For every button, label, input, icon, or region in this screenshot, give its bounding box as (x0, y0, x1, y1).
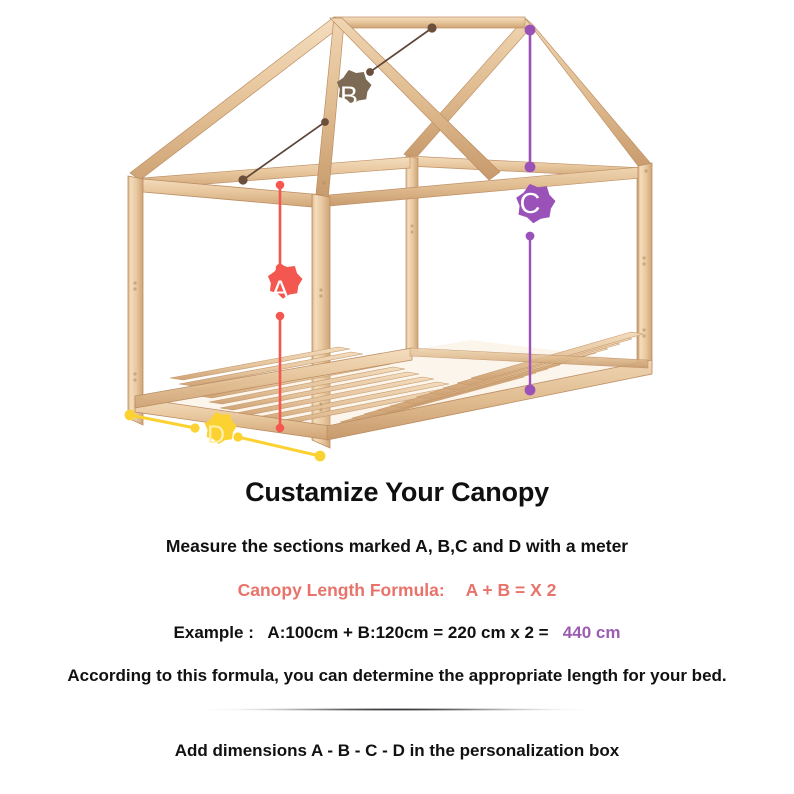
marker-c-badge-bottom-dot (526, 232, 535, 241)
marker-d-badge-left-dot (190, 423, 199, 432)
page-title: Custamize Your Canopy (0, 477, 794, 508)
infographic-page: A B C (0, 0, 794, 794)
formula-expression: A + B = X 2 (466, 580, 557, 600)
formula-line: Canopy Length Formula: A + B = X 2 (0, 580, 794, 601)
marker-d-start-dot (125, 410, 136, 421)
instructions-block: Custamize Your Canopy Measure the sectio… (0, 470, 794, 761)
marker-a-top-dot (276, 181, 285, 190)
marker-c-top-dot (525, 25, 536, 36)
marker-c-badge-top-dot (525, 162, 536, 173)
marker-a-label: A (271, 275, 289, 305)
marker-a-bottom-dot (276, 424, 285, 433)
marker-d-label: D (207, 421, 225, 449)
marker-b-label: B (340, 81, 358, 111)
add-dimensions-line: Add dimensions A - B - C - D in the pers… (0, 741, 794, 761)
formula-label: Canopy Length Formula: (238, 580, 445, 600)
marker-c[interactable]: C (516, 25, 555, 396)
section-divider (197, 708, 597, 711)
marker-b-start-dot (238, 175, 247, 184)
example-result: 440 cm (563, 623, 621, 642)
marker-d-end-dot (315, 451, 326, 462)
marker-d-badge-right-dot (233, 432, 242, 441)
marker-b-badge-lower-dot (321, 118, 329, 126)
according-line: According to this formula, you can deter… (0, 666, 794, 686)
measure-instruction: Measure the sections marked A, B,C and D… (0, 536, 794, 557)
marker-b-end-dot (427, 23, 436, 32)
marker-b-badge-upper-dot (366, 68, 374, 76)
frame-right-end-post (638, 163, 652, 368)
example-body: A:100cm + B:120cm = 220 cm x 2 = (267, 623, 548, 642)
example-line: Example : A:100cm + B:120cm = 220 cm x 2… (0, 623, 794, 643)
marker-c-label: C (520, 188, 541, 220)
marker-a-badge-bottom-dot (276, 312, 285, 321)
example-label: Example : (174, 623, 254, 642)
marker-c-bottom-dot (525, 385, 536, 396)
bed-frame-illustration: A B C (0, 0, 794, 470)
